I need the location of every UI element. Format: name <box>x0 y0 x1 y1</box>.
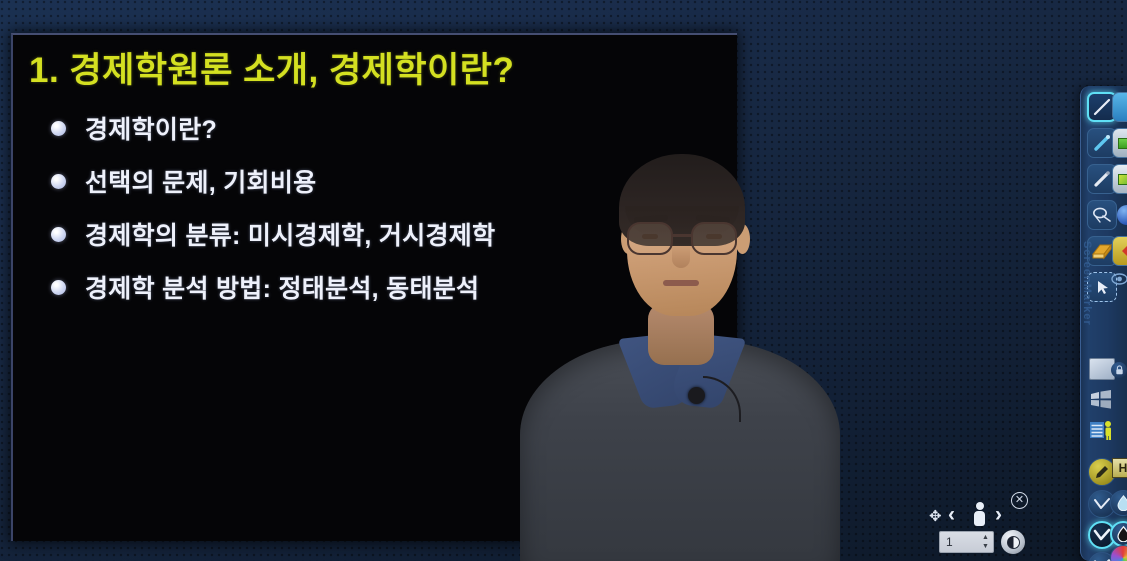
slide-bullet-list: 경제학이란? 선택의 문제, 기회비용 경제학의 분류: 미시경제학, 거시경제… <box>29 111 725 304</box>
list-item: 경제학의 분류: 미시경제학, 거시경제학 <box>29 217 725 251</box>
stepper-down-icon[interactable]: ▼ <box>980 542 991 551</box>
close-icon[interactable]: ✕ <box>1011 492 1028 509</box>
stamp-icon[interactable] <box>1112 236 1127 266</box>
stroke-thin-glyph <box>1092 497 1112 511</box>
lock-icon[interactable] <box>1111 362 1127 378</box>
list-item: 경제학 분석 방법: 정태분석, 동태분석 <box>29 270 725 304</box>
color-light-blue-icon[interactable] <box>1110 490 1127 516</box>
app-brand-label: ScreenMarker <box>1081 241 1093 326</box>
toolbar-item-color-light-blue[interactable]: Light Blue <box>1110 490 1127 516</box>
slide-title: 1. 경제학원론 소개, 경제학이란? <box>29 51 725 91</box>
bullet-text: 경제학의 분류: 미시경제학, 거시경제학 <box>85 216 495 252</box>
prev-slide-button[interactable]: ‹ <box>948 504 955 525</box>
screen-record-icon[interactable] <box>1112 128 1127 158</box>
toolbar-item-record[interactable]: Record <box>1112 128 1127 158</box>
bullet-dot-icon <box>51 227 66 242</box>
toolbar-item-windows[interactable]: Windows <box>1090 389 1112 409</box>
cursor-arrow-glyph <box>1093 278 1111 296</box>
person-body-glyph <box>974 511 985 526</box>
toolbar-item-text[interactable]: H Text <box>1112 458 1127 478</box>
person-head-glyph <box>976 502 984 510</box>
record-screen-glyph <box>1118 138 1127 149</box>
toolbar-item-highlight-screen[interactable]: Highlight <box>1112 164 1127 194</box>
toolbar-item-color-custom[interactable]: More Colors <box>1110 545 1127 561</box>
screen-root: 1. 경제학원론 소개, 경제학이란? 경제학이란? 선택의 문제, 기회비용 … <box>0 0 1127 561</box>
stepper-buttons[interactable]: ▲ ▼ <box>980 533 993 551</box>
toolbar-item-stamp[interactable]: Stamp <box>1112 236 1127 266</box>
slide-content: 1. 경제학원론 소개, 경제학이란? 경제학이란? 선택의 문제, 기회비용 … <box>13 35 737 541</box>
toolbar-item-capture[interactable]: Capture <box>1112 92 1127 122</box>
droplet-glyph <box>1117 495 1127 511</box>
list-item: 경제학이란? <box>29 111 725 145</box>
pen-style-glyph <box>1094 464 1110 480</box>
slide-navigation-panel[interactable]: ✥ ✕ ‹ Presenter mode › 1 ▲ ▼ Invert <box>925 495 1030 557</box>
pencil-glyph <box>1092 169 1112 189</box>
spotlight-glyph <box>1117 205 1127 225</box>
presentation-slide[interactable]: 1. 경제학원론 소개, 경제학이란? 경제학이란? 선택의 문제, 기회비용 … <box>11 33 737 541</box>
windows-icon[interactable] <box>1090 389 1112 409</box>
droplet-glyph <box>1117 526 1127 542</box>
stroke-medium-glyph <box>1092 528 1112 542</box>
bullet-text: 선택의 문제, 기회비용 <box>85 163 316 199</box>
toolbar-item-lock[interactable]: Lock <box>1111 362 1127 378</box>
bullet-text: 경제학이란? <box>85 110 217 146</box>
bullet-text: 경제학 분석 방법: 정태분석, 동태분석 <box>85 269 479 305</box>
stepper-up-icon[interactable]: ▲ <box>980 533 991 542</box>
color-black-icon[interactable] <box>1110 521 1127 547</box>
presenter-ear-right <box>735 224 750 254</box>
toolbar-item-color-black[interactable]: Black <box>1110 521 1127 547</box>
lock-glyph <box>1115 365 1124 375</box>
toolbar-item-spotlight[interactable]: Spotlight <box>1112 200 1127 230</box>
highlight-screen-icon[interactable] <box>1112 164 1127 194</box>
toolbar-item-visibility[interactable]: Show / Hide <box>1111 272 1127 286</box>
list-item: 선택의 문제, 기회비용 <box>29 164 725 198</box>
page-number-stepper[interactable]: 1 ▲ ▼ <box>939 531 994 553</box>
move-handle-icon[interactable]: ✥ <box>929 509 942 524</box>
bullet-dot-icon <box>51 174 66 189</box>
bullet-dot-icon <box>51 121 66 136</box>
bullet-dot-icon <box>51 280 66 295</box>
page-number-value[interactable]: 1 <box>940 535 980 549</box>
line-glyph <box>1092 97 1112 117</box>
spotlight-icon[interactable] <box>1112 200 1127 230</box>
screen-capture-icon[interactable] <box>1112 92 1127 122</box>
screenmarker-toolbar-secondary-column[interactable]: Capture Record Highlight Spotlight Stamp <box>1110 86 1127 561</box>
stamp-glyph <box>1122 246 1127 256</box>
pen-glyph <box>1092 133 1112 153</box>
color-custom-icon[interactable] <box>1110 545 1127 561</box>
highlight-screen-glyph <box>1118 174 1127 185</box>
text-tool-icon[interactable]: H <box>1112 458 1127 478</box>
next-slide-button[interactable]: › <box>995 504 1002 525</box>
invert-toggle-button[interactable]: Invert <box>1001 530 1025 554</box>
presenter-mode-icon[interactable]: Presenter mode <box>973 502 986 526</box>
eye-icon[interactable] <box>1111 272 1127 286</box>
